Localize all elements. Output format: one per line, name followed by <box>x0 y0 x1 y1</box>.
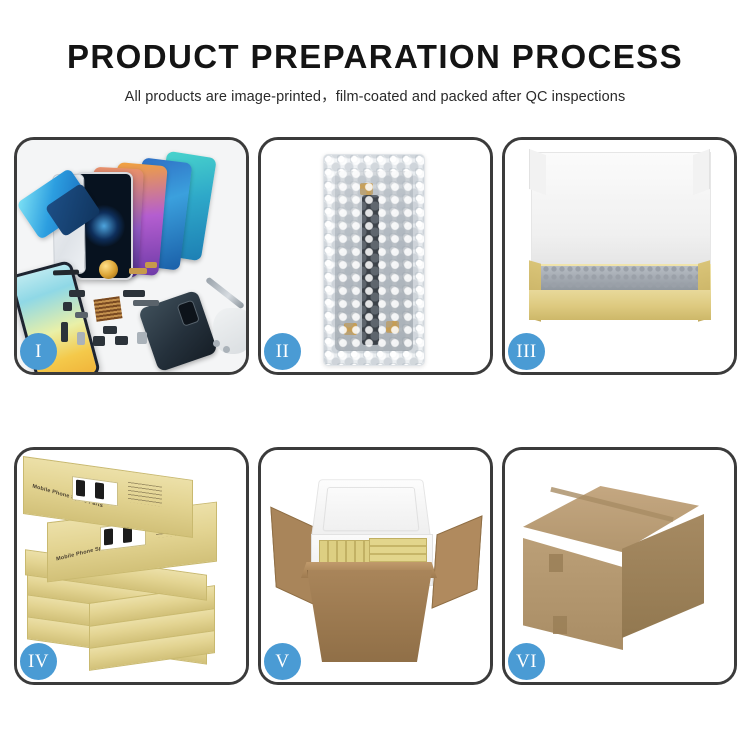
screw-icon <box>223 346 230 353</box>
step-card-4[interactable]: Mobile Phone Spare Parts Mobile Phone Sp… <box>14 447 249 685</box>
part-icon <box>137 332 147 344</box>
process-step-grid: I II <box>14 137 736 685</box>
carton-left-face-icon <box>523 538 623 650</box>
carton-flap-right-icon <box>432 515 483 608</box>
part-icon <box>123 290 145 297</box>
tweezers-icon <box>205 276 245 309</box>
step-card-1[interactable]: I <box>14 137 249 375</box>
part-icon <box>69 290 85 297</box>
part-icon <box>75 312 88 318</box>
step-badge-5: V <box>264 643 301 680</box>
screw-icon <box>213 340 220 347</box>
connector-icon <box>129 268 147 274</box>
step-badge-3: III <box>508 333 545 370</box>
product-preparation-infographic: PRODUCT PREPARATION PROCESS All products… <box>0 0 750 750</box>
connector-icon <box>145 262 157 268</box>
carton-tape-icon <box>553 616 567 634</box>
antenna-bar-icon <box>53 270 79 276</box>
header: PRODUCT PREPARATION PROCESS All products… <box>0 0 750 106</box>
page-title: PRODUCT PREPARATION PROCESS <box>0 38 750 76</box>
step-card-5[interactable]: V <box>258 447 493 685</box>
foam-lid-icon <box>311 479 432 541</box>
part-icon <box>93 336 105 346</box>
camera-module-icon <box>176 300 200 327</box>
box-front-panel-icon <box>529 290 711 320</box>
bubble-texture-icon <box>324 155 424 365</box>
step-badge-2: II <box>264 333 301 370</box>
box-lid-icon <box>531 152 711 270</box>
flex-cable-icon <box>61 322 68 342</box>
step-card-3[interactable]: III <box>502 137 737 375</box>
part-icon <box>63 302 72 311</box>
step-badge-4: IV <box>20 643 57 680</box>
page-subtitle: All products are image-printed，film-coat… <box>0 85 750 106</box>
box-spec-lines <box>128 482 162 507</box>
chip-grid-icon <box>94 296 123 321</box>
step-badge-6: VI <box>508 643 545 680</box>
speaker-coil-icon <box>99 260 118 279</box>
part-icon <box>103 326 117 334</box>
step-card-2[interactable]: II <box>258 137 493 375</box>
part-icon <box>115 336 128 345</box>
carton-body-icon <box>307 570 432 662</box>
lid-flap-right-icon <box>693 149 710 195</box>
bubble-wrap-pouch-icon <box>323 154 425 366</box>
part-icon <box>133 300 159 306</box>
carton-tape-icon <box>549 554 563 572</box>
step-badge-1: I <box>20 333 57 370</box>
bubble-padding-icon <box>535 266 705 292</box>
lid-flap-left-icon <box>529 149 546 195</box>
step-card-6[interactable]: VI <box>502 447 737 685</box>
part-icon <box>77 332 85 345</box>
